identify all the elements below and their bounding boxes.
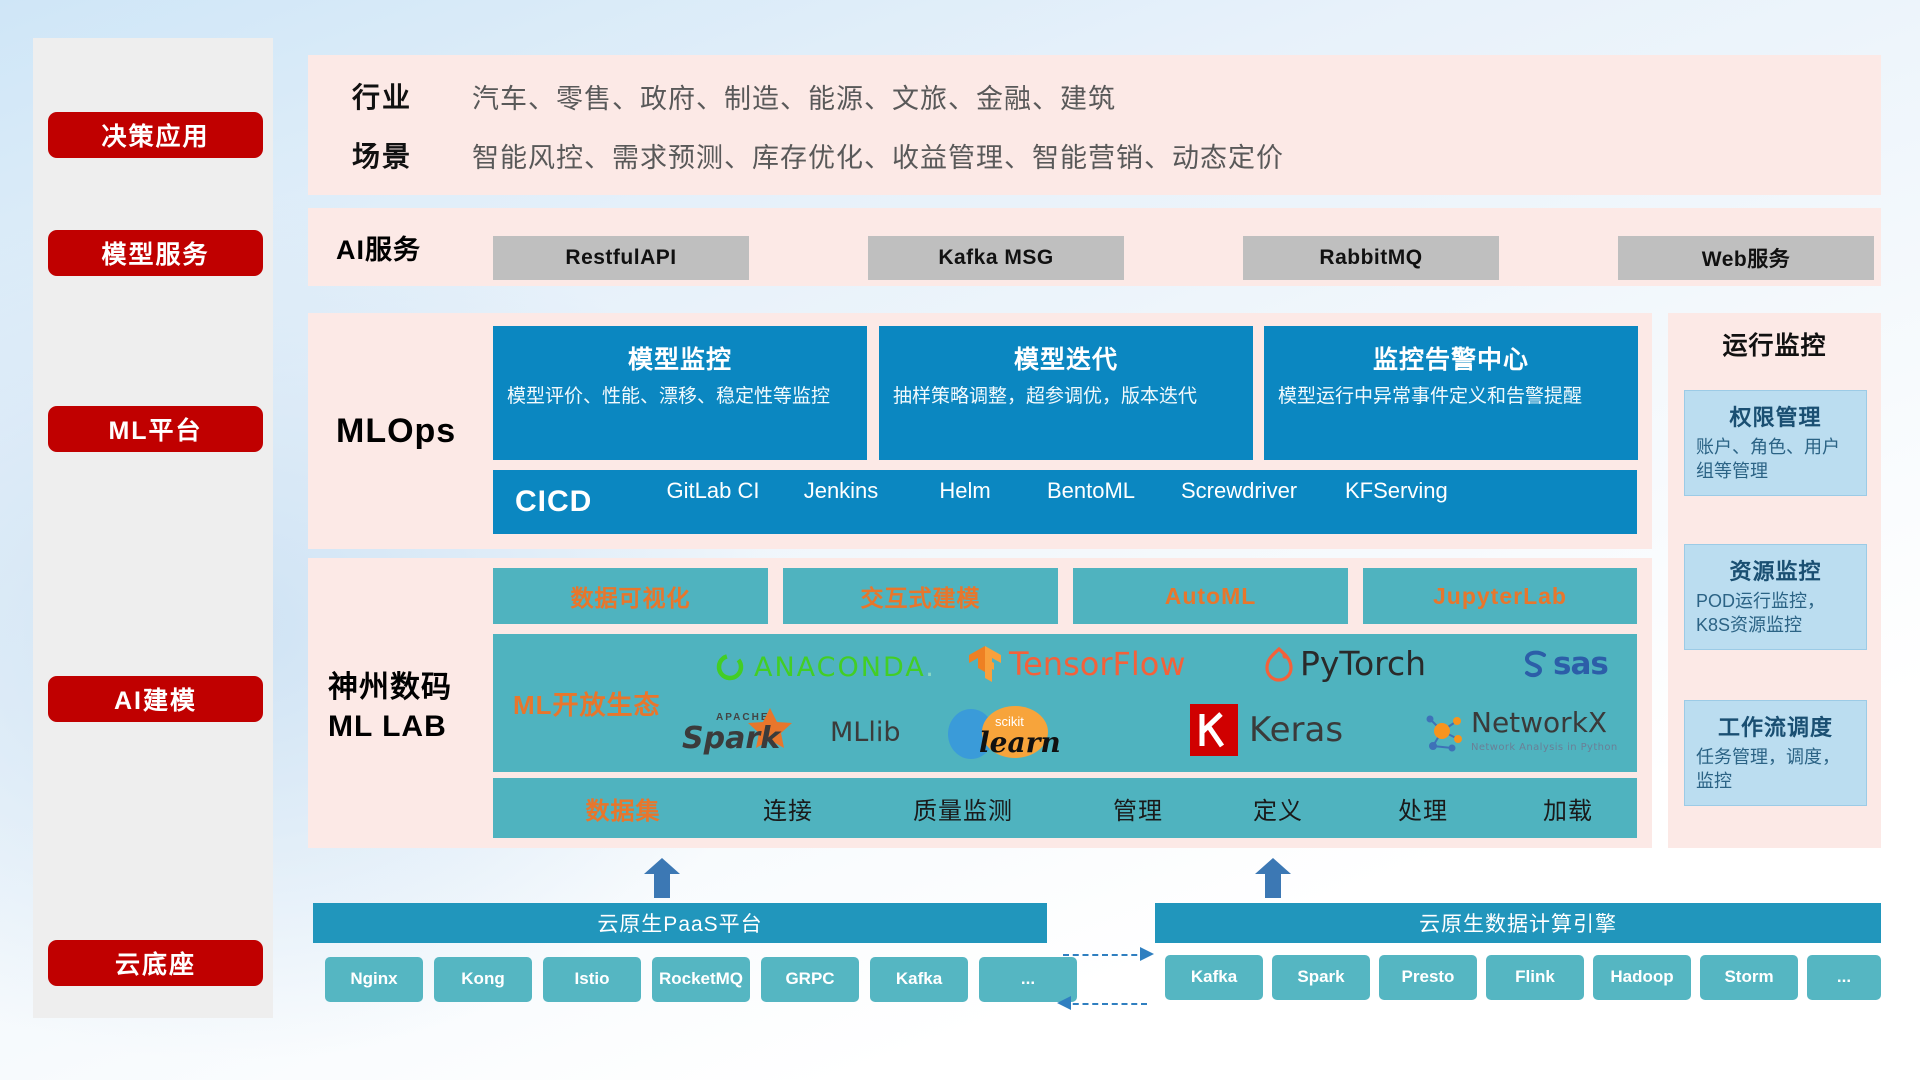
mllib-wordmark: MLlib	[830, 717, 900, 748]
service-chip-kafka-msg[interactable]: Kafka MSG	[868, 236, 1124, 280]
pytorch-mark-icon	[1263, 645, 1295, 683]
sas-wordmark: sas	[1553, 646, 1608, 682]
industry-values: 汽车、零售、政府、制造、能源、文旅、金融、建筑	[472, 77, 1116, 116]
monitoring-title: 运行监控	[1668, 313, 1881, 375]
cloud-tag-nginx[interactable]: Nginx	[325, 957, 423, 1002]
sidebar-item-ml-platform[interactable]: ML平台	[48, 406, 263, 452]
networkx-wordmark: NetworkX Network Analysis in Python	[1471, 709, 1618, 753]
ml-ecosystem-block: ML开放生态 ANACONDA. TensorFlow	[493, 634, 1637, 772]
pytorch-wordmark: PyTorch	[1300, 644, 1426, 683]
cloud-tag-grpc[interactable]: GRPC	[761, 957, 859, 1002]
anaconda-logo: ANACONDA.	[713, 650, 936, 684]
cloud-tag-kong[interactable]: Kong	[434, 957, 532, 1002]
cloud-tag-more-right[interactable]: ...	[1807, 955, 1881, 1000]
sidebar-item-model-service[interactable]: 模型服务	[48, 230, 263, 276]
scene-label: 场景	[352, 135, 472, 175]
service-chip-web[interactable]: Web服务	[1618, 236, 1874, 280]
lab-chip-automl[interactable]: AutoML	[1073, 568, 1348, 624]
dataset-item-dataset[interactable]: 数据集	[538, 778, 708, 838]
lab-chip-jupyterlab[interactable]: JupyterLab	[1363, 568, 1637, 624]
cloud-tag-presto[interactable]: Presto	[1379, 955, 1477, 1000]
keras-mark-icon	[1188, 702, 1240, 758]
industry-row: 行业 汽车、零售、政府、制造、能源、文旅、金融、建筑	[352, 76, 1116, 116]
cicd-item-bentoml[interactable]: BentoML	[1043, 476, 1139, 506]
cloud-paas-header: 云原生PaaS平台	[313, 903, 1047, 943]
dashed-arrow-right-icon	[1140, 946, 1156, 962]
sidebar-item-cloud-base[interactable]: 云底座	[48, 940, 263, 986]
dashed-connector-left	[1063, 1003, 1147, 1005]
service-chip-rabbitmq[interactable]: RabbitMQ	[1243, 236, 1499, 280]
diagram-canvas: 决策应用 模型服务 ML平台 AI建模 云底座 行业 汽车、零售、政府、制造、能…	[0, 0, 1920, 1080]
tensorflow-mark-icon	[968, 644, 1004, 684]
keras-wordmark: Keras	[1249, 710, 1343, 750]
ai-service-label: AI服务	[336, 208, 421, 286]
anaconda-wordmark: ANACONDA.	[754, 652, 936, 683]
tensorflow-logo: TensorFlow	[968, 644, 1186, 684]
mlops-label: MLOps	[336, 313, 456, 549]
cicd-bar: CICD GitLab CI Jenkins Helm BentoML Scre…	[493, 470, 1637, 534]
cicd-item-jenkins[interactable]: Jenkins	[793, 476, 889, 506]
dashed-arrow-left-icon	[1055, 995, 1071, 1011]
sidebar-item-decision-app[interactable]: 决策应用	[48, 112, 263, 158]
scikit-learn-mark-icon: scikit learn	[943, 706, 1073, 762]
cloud-tag-kafka[interactable]: Kafka	[870, 957, 968, 1002]
dataset-item-manage[interactable]: 管理	[1063, 778, 1213, 838]
card-title: 模型监控	[493, 340, 867, 376]
cloud-tag-istio[interactable]: Istio	[543, 957, 641, 1002]
scene-values: 智能风控、需求预测、库存优化、收益管理、智能营销、动态定价	[472, 136, 1284, 175]
card-title: 资源监控	[1685, 554, 1866, 586]
sidebar-item-ai-modeling[interactable]: AI建模	[48, 676, 263, 722]
lab-chip-data-visualization[interactable]: 数据可视化	[493, 568, 768, 624]
layer-rail	[33, 38, 273, 1018]
spark-mark-icon: APACHE Spark	[678, 706, 828, 758]
card-desc: 任务管理，调度，监控	[1685, 742, 1866, 794]
monitor-card-permission[interactable]: 权限管理 账户、角色、用户组等管理	[1684, 390, 1867, 496]
dataset-item-define[interactable]: 定义	[1203, 778, 1353, 838]
arrow-up-icon-paas	[640, 858, 684, 898]
ml-lab-label: 神州数码 ML LAB	[328, 558, 452, 958]
card-desc: 抽样策略调整，超参调优，版本迭代	[879, 384, 1253, 409]
tensorflow-wordmark: TensorFlow	[1009, 645, 1186, 683]
pytorch-logo: PyTorch	[1263, 644, 1426, 683]
sas-logo: sas	[1518, 646, 1608, 682]
spark-mllib-logo: APACHE Spark MLlib	[678, 706, 900, 758]
cloud-tag-flink[interactable]: Flink	[1486, 955, 1584, 1000]
cicd-item-kfserving[interactable]: KFServing	[1345, 476, 1441, 506]
keras-logo: Keras	[1188, 702, 1343, 758]
mlops-card-alert-center[interactable]: 监控告警中心 模型运行中异常事件定义和告警提醒	[1264, 326, 1638, 460]
svg-text:Spark: Spark	[682, 721, 782, 756]
card-desc: 模型评价、性能、漂移、稳定性等监控	[493, 384, 867, 409]
dataset-item-process[interactable]: 处理	[1348, 778, 1498, 838]
cloud-tag-storm[interactable]: Storm	[1700, 955, 1798, 1000]
dataset-item-connect[interactable]: 连接	[713, 778, 863, 838]
card-desc: 账户、角色、用户组等管理	[1685, 432, 1866, 484]
monitor-card-workflow[interactable]: 工作流调度 任务管理，调度，监控	[1684, 700, 1867, 806]
networkx-logo: NetworkX Network Analysis in Python	[1421, 708, 1618, 754]
cicd-item-helm[interactable]: Helm	[917, 476, 1013, 506]
lab-chip-interactive-modeling[interactable]: 交互式建模	[783, 568, 1058, 624]
dataset-item-quality[interactable]: 质量监测	[868, 778, 1058, 838]
cloud-tag-hadoop[interactable]: Hadoop	[1593, 955, 1691, 1000]
dashed-connector-right	[1063, 954, 1147, 956]
cloud-tag-spark[interactable]: Spark	[1272, 955, 1370, 1000]
sas-mark-icon	[1518, 647, 1552, 681]
cicd-item-screwdriver[interactable]: Screwdriver	[1181, 476, 1277, 506]
cloud-tag-rocketmq[interactable]: RocketMQ	[652, 957, 750, 1002]
mlops-card-model-monitor[interactable]: 模型监控 模型评价、性能、漂移、稳定性等监控	[493, 326, 867, 460]
card-title: 监控告警中心	[1264, 340, 1638, 376]
arrow-up-icon-engine	[1251, 858, 1295, 898]
scene-row: 场景 智能风控、需求预测、库存优化、收益管理、智能营销、动态定价	[352, 135, 1284, 175]
monitor-card-resource[interactable]: 资源监控 POD运行监控，K8S资源监控	[1684, 544, 1867, 650]
mlops-card-model-iteration[interactable]: 模型迭代 抽样策略调整，超参调优，版本迭代	[879, 326, 1253, 460]
cicd-title: CICD	[515, 470, 592, 534]
service-chip-restfulapi[interactable]: RestfulAPI	[493, 236, 749, 280]
card-title: 工作流调度	[1685, 710, 1866, 742]
anaconda-mark-icon	[713, 650, 747, 684]
card-title: 权限管理	[1685, 400, 1866, 432]
cloud-engine-header: 云原生数据计算引擎	[1155, 903, 1881, 943]
card-desc: POD运行监控，K8S资源监控	[1685, 586, 1866, 638]
scikit-learn-logo: scikit learn	[943, 706, 1073, 762]
dataset-row: 数据集 连接 质量监测 管理 定义 处理 加载	[493, 778, 1637, 838]
networkx-mark-icon	[1421, 708, 1467, 754]
ml-lab-label-line2: ML LAB	[328, 707, 452, 746]
cicd-item-gitlab-ci[interactable]: GitLab CI	[665, 476, 761, 506]
card-title: 模型迭代	[879, 340, 1253, 376]
ml-lab-label-line1: 神州数码	[328, 668, 452, 707]
card-desc: 模型运行中异常事件定义和告警提醒	[1264, 384, 1638, 409]
cloud-tag-kafka-r[interactable]: Kafka	[1165, 955, 1263, 1000]
industry-label: 行业	[352, 76, 472, 116]
svg-text:learn: learn	[979, 726, 1061, 759]
ml-ecosystem-label: ML开放生态	[513, 634, 661, 772]
dataset-item-load[interactable]: 加载	[1493, 778, 1643, 838]
